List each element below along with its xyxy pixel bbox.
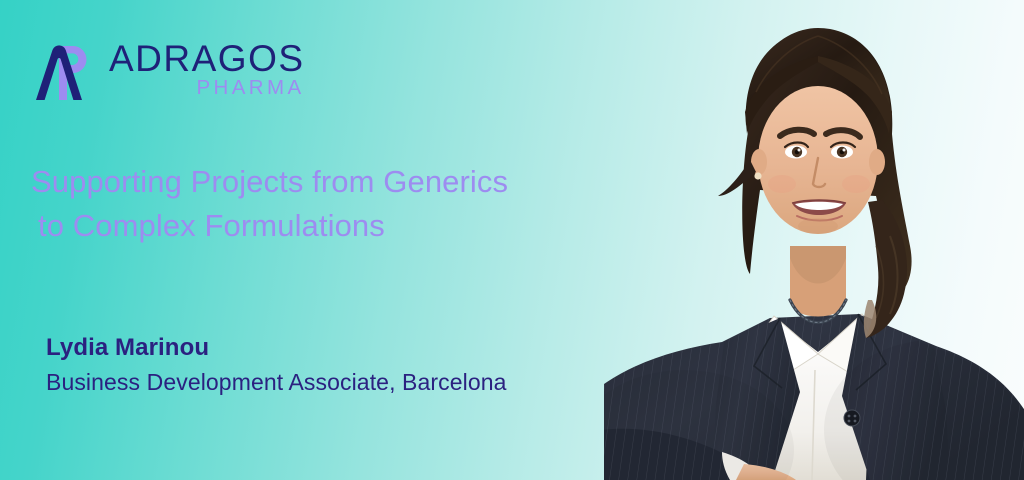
speaker-role: Business Development Associate, Barcelon… xyxy=(46,367,507,398)
necklace xyxy=(790,300,846,323)
blazer xyxy=(604,314,1024,480)
blazer-lapels xyxy=(712,314,950,480)
speaker-name: Lydia Marinou xyxy=(46,332,507,364)
headline: Supporting Projects from Generics to Com… xyxy=(31,160,671,248)
ponytail xyxy=(864,200,907,338)
logo-subbrand-text: PHARMA xyxy=(196,78,304,99)
adragos-a-p-monogram-icon xyxy=(33,38,95,102)
hair-front xyxy=(718,30,892,196)
earring xyxy=(754,172,761,179)
headline-line-2: to Complex Formulations xyxy=(31,204,671,248)
dress-shirt xyxy=(754,314,876,480)
adragos-pharma-logo[interactable]: ADRAGOS PHARMA xyxy=(33,38,305,102)
logo-wordmark: ADRAGOS PHARMA xyxy=(109,41,305,99)
hair-back xyxy=(742,28,911,300)
logo-brand-text: ADRAGOS xyxy=(109,41,305,77)
headline-line-1: Supporting Projects from Generics xyxy=(31,164,508,199)
face xyxy=(751,86,885,234)
presentation-banner: ADRAGOS PHARMA Supporting Projects from … xyxy=(0,0,1024,480)
crossed-arms xyxy=(604,429,796,480)
speaker-credit: Lydia Marinou Business Development Assoc… xyxy=(46,332,507,398)
